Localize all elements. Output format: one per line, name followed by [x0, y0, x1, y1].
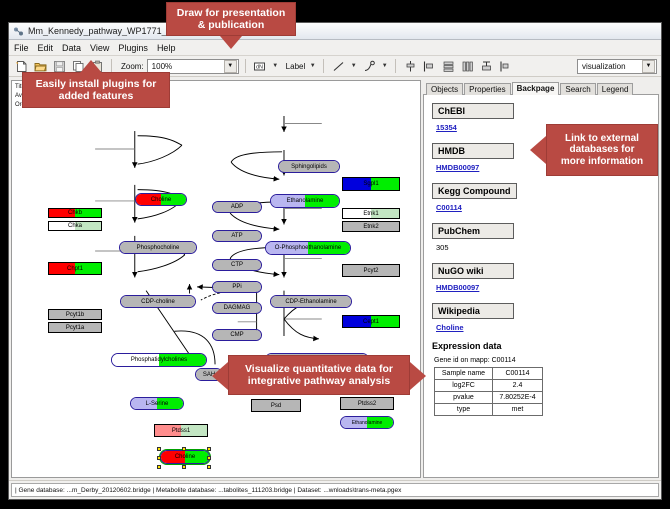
node-label: Chpt1	[67, 266, 83, 272]
node-label: Ethanolamine	[352, 420, 383, 426]
status-text: | Gene database: ...m_Derby_20120602.bri…	[11, 483, 659, 497]
node-label: Ethanolamine	[287, 198, 324, 204]
node-label: Pcyt2	[363, 268, 378, 274]
pathway-node-ppi[interactable]: PPi	[212, 281, 262, 293]
order-icon[interactable]	[497, 58, 513, 74]
pathway-node-l-serine-left[interactable]: L-Serine	[130, 397, 184, 410]
expression-value: C00114	[493, 368, 543, 380]
tab-properties[interactable]: Properties	[464, 83, 510, 95]
selection-handle[interactable]	[182, 447, 186, 451]
pathway-node-sphingolipids[interactable]: Sphingolipids	[278, 160, 340, 173]
node-label: Ptdss1	[172, 428, 190, 434]
node-label: Etnk1	[363, 211, 378, 217]
toolbar-separator-3	[323, 59, 324, 73]
expression-table: Sample nameC00114log2FC2.4pvalue7.80252E…	[434, 367, 543, 416]
node-label: Chkb	[68, 210, 82, 216]
node-label: Phosphocholine	[137, 245, 180, 251]
menu-file[interactable]: File	[14, 43, 29, 53]
expression-key: pvalue	[435, 392, 493, 404]
callout-links-text: Link to externaldatabases formore inform…	[561, 133, 643, 168]
table-row: log2FC2.4	[435, 380, 543, 392]
backpage-head-chebi: ChEBI	[432, 103, 514, 119]
pathway-node-ethanolamine-bottom[interactable]: Ethanolamine	[340, 416, 394, 429]
pathway-node-ptdss1[interactable]: Ptdss1	[154, 424, 208, 437]
visualization-combo[interactable]: visualization ▼	[577, 59, 657, 74]
pathway-node-ctp[interactable]: CTP	[212, 259, 262, 271]
align-left-icon[interactable]	[421, 58, 437, 74]
backpage-head-wikipedia: Wikipedia	[432, 303, 514, 319]
callout-links-arrow-icon	[530, 136, 546, 164]
chevron-down-icon[interactable]: ▼	[224, 60, 237, 73]
expression-value: 7.80252E-4	[493, 392, 543, 404]
menu-plugins[interactable]: Plugins	[118, 43, 148, 53]
backpage-head-nugo-wiki: NuGO wiki	[432, 263, 514, 279]
selection-handle[interactable]	[157, 447, 161, 451]
pathway-node-dagmag[interactable]: DAGMAG	[212, 302, 262, 314]
pathway-node-ptdss2[interactable]: Ptdss2	[340, 397, 394, 410]
expression-key: Sample name	[435, 368, 493, 380]
callout-visualize: Visualize quantitative data forintegrati…	[228, 355, 410, 395]
backpage-link-4[interactable]: HMDB00097	[436, 283, 650, 292]
pathway-node-cgpt1[interactable]: Cept1	[342, 315, 400, 328]
menu-data[interactable]: Data	[62, 43, 81, 53]
line-icon[interactable]	[330, 58, 346, 74]
pathway-node-pcyt2[interactable]: Pcyt2	[342, 264, 400, 277]
callout-draw-text: Draw for presentation& publication	[177, 7, 286, 31]
label-tool-label[interactable]: Label	[286, 62, 306, 71]
node-label: Ptdss2	[358, 401, 376, 407]
expression-value: met	[493, 404, 543, 416]
table-row: Sample nameC00114	[435, 368, 543, 380]
app-icon	[13, 26, 24, 37]
pathway-node-cmp[interactable]: CMP	[212, 329, 262, 341]
node-label: ADP	[231, 204, 243, 210]
backpage-link-5[interactable]: Choline	[436, 323, 650, 332]
pathway-node-psd[interactable]: Psd	[251, 399, 301, 412]
pathway-node-choline-selected[interactable]: Choline	[160, 450, 210, 464]
pathway-node-atp[interactable]: ATP	[212, 230, 262, 242]
zoom-label: Zoom:	[121, 62, 144, 71]
toolbar-separator-1	[111, 59, 112, 73]
backpage-head-pubchem: PubChem	[432, 223, 514, 239]
table-row: typemet	[435, 404, 543, 416]
pathway-node-sgpl1[interactable]: Sgpl1	[342, 177, 400, 191]
pathway-node-pcyt1b[interactable]: Pcyt1b	[48, 309, 102, 320]
pathway-node-etnk1[interactable]: Etnk1	[342, 208, 400, 219]
node-label: Sphingolipids	[291, 164, 327, 170]
menu-edit[interactable]: Edit	[38, 43, 54, 53]
selection-handle[interactable]	[182, 465, 186, 469]
pathway-node-o-phosphoethanolamine[interactable]: O-Phosphoethanolamine	[265, 241, 351, 255]
pathway-node-phosphatidylcholines[interactable]: Phosphatidylcholines	[111, 353, 207, 367]
status-bar: | Gene database: ...m_Derby_20120602.bri…	[9, 480, 661, 499]
node-label: Etnk2	[363, 224, 378, 230]
stack-icon[interactable]	[440, 58, 456, 74]
callout-plugins-text: Easily install plugins foradded features	[36, 78, 157, 102]
node-label: Pcyt1a	[66, 325, 84, 331]
pathway-node-chpt1[interactable]: Chpt1	[48, 262, 102, 275]
title-bar: Mm_Kennedy_pathway_WP1771_45176.gpml	[9, 23, 661, 40]
menu-help[interactable]: Help	[157, 43, 176, 53]
node-label: Chka	[68, 223, 82, 229]
pathway-node-pcyt1a[interactable]: Pcyt1a	[48, 322, 102, 333]
node-label: CDP-choline	[141, 299, 175, 305]
selection-handle[interactable]	[207, 456, 211, 460]
distribute-icon[interactable]	[459, 58, 475, 74]
side-tabstrip: Objects Properties Backpage Search Legen…	[423, 80, 659, 95]
gene-id-label: Gene id on mapp: C00114	[434, 357, 650, 364]
svg-text:dN: dN	[256, 64, 263, 70]
pathway-node-choline-top[interactable]: Choline	[135, 193, 187, 206]
menu-bar: File Edit Data View Plugins Help	[9, 40, 661, 56]
selection-handle[interactable]	[207, 447, 211, 451]
node-label: O-Phosphoethanolamine	[275, 245, 341, 251]
callout-draw-arrow-icon	[220, 36, 242, 49]
menu-view[interactable]: View	[90, 43, 109, 53]
callout-visualize-text: Visualize quantitative data forintegrati…	[245, 363, 393, 387]
align-icon[interactable]	[402, 58, 418, 74]
expression-value: 2.4	[493, 380, 543, 392]
selection-handle[interactable]	[157, 465, 161, 469]
pathway-node-etnk2[interactable]: Etnk2	[342, 221, 400, 232]
node-label: L-Serine	[146, 401, 169, 407]
pathway-node-cdp-choline[interactable]: CDP-choline	[120, 295, 196, 308]
callout-draw: Draw for presentation& publication	[166, 2, 296, 36]
pathway-canvas-inner[interactable]: Title: Availa Organi	[12, 81, 420, 477]
backpage-head-kegg-compound: Kegg Compound	[432, 183, 517, 199]
datanode-icon[interactable]: dN	[252, 58, 268, 74]
visualization-value: visualization	[582, 62, 642, 71]
toolbar-separator-4	[395, 59, 396, 73]
node-label: Pcyt1b	[66, 312, 84, 318]
tab-objects[interactable]: Objects	[426, 83, 463, 95]
selection-handle[interactable]	[157, 456, 161, 460]
pathway-node-chkb[interactable]: Chkb	[48, 208, 102, 218]
callout-plugins-arrow-icon	[80, 60, 102, 73]
node-label: Sgpl1	[363, 181, 378, 187]
tab-backpage[interactable]: Backpage	[512, 82, 560, 95]
callout-plugins: Easily install plugins foradded features	[22, 72, 170, 108]
expression-data-title: Expression data	[432, 341, 650, 351]
expression-key: type	[435, 404, 493, 416]
pathway-node-chka[interactable]: Chka	[48, 221, 102, 231]
datanode-chevron-icon[interactable]: ▼	[271, 59, 280, 73]
label-chevron-icon[interactable]: ▼	[308, 59, 317, 73]
screenshot-root: Mm_Kennedy_pathway_WP1771_45176.gpml Fil…	[0, 0, 670, 509]
pathway-node-phosphocholine[interactable]: Phosphocholine	[119, 241, 197, 254]
node-label: Choline	[175, 454, 195, 460]
tab-search[interactable]: Search	[560, 83, 595, 95]
pathway-node-ethanolamine-top[interactable]: Ethanolamine	[270, 194, 340, 208]
toolbar-separator-2	[245, 59, 246, 73]
backpage-head-hmdb: HMDB	[432, 143, 514, 159]
node-label: PPi	[232, 284, 241, 290]
expression-key: log2FC	[435, 380, 493, 392]
backpage-link-2[interactable]: C00114	[436, 203, 650, 212]
node-label: CTP	[231, 262, 243, 268]
node-label: DAGMAG	[224, 305, 251, 311]
line-chevron-icon[interactable]: ▼	[349, 59, 358, 73]
node-label: Cept1	[363, 319, 379, 325]
group-icon[interactable]	[478, 58, 494, 74]
pathway-node-cdp-ethanolamine[interactable]: CDP-Ethanolamine	[270, 295, 352, 308]
callout-visualize-arrow-left-icon	[212, 362, 228, 390]
node-label: CDP-Ethanolamine	[285, 299, 336, 305]
node-label: Choline	[151, 197, 171, 203]
callout-visualize-arrow-icon	[410, 362, 426, 390]
pathway-canvas[interactable]: Title: Availa Organi	[11, 80, 421, 478]
table-row: pvalue7.80252E-4	[435, 392, 543, 404]
node-label: Phosphatidylcholines	[131, 357, 187, 363]
tab-legend[interactable]: Legend	[597, 83, 634, 95]
pathway-node-adp[interactable]: ADP	[212, 201, 262, 213]
selection-handle[interactable]	[207, 465, 211, 469]
interaction-icon[interactable]	[361, 58, 377, 74]
backpage-value-3: 305	[436, 243, 650, 252]
node-label: ATP	[231, 233, 242, 239]
visualization-chevron-icon[interactable]: ▼	[642, 60, 655, 73]
node-label: Psd	[271, 403, 281, 409]
callout-links: Link to externaldatabases formore inform…	[546, 124, 658, 176]
interaction-chevron-icon[interactable]: ▼	[380, 59, 389, 73]
node-label: CMP	[230, 332, 243, 338]
zoom-value: 100%	[152, 62, 224, 71]
